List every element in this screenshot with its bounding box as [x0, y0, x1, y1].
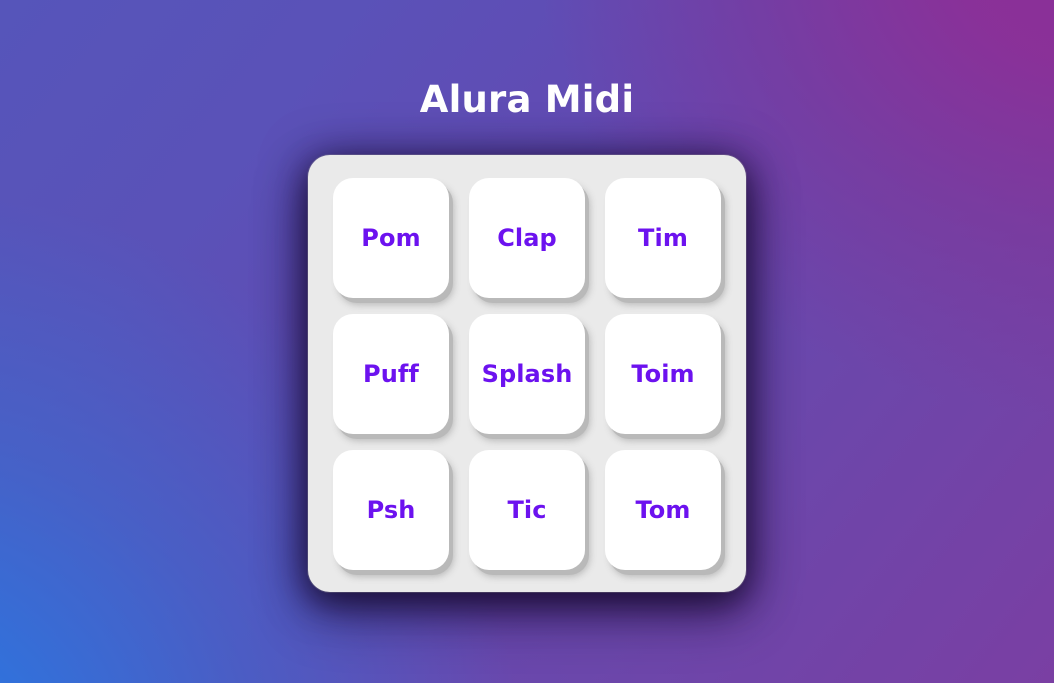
pad-label: Pom [361, 224, 420, 252]
pad-label: Tim [638, 224, 688, 252]
drum-pad-grid: Pom Clap Tim Puff Splash Toim Psh Tic [333, 178, 721, 570]
pad-psh-button[interactable]: Psh [333, 450, 449, 570]
app-screen: Alura Midi Pom Clap Tim Puff Splash Toim [0, 0, 1054, 683]
pad-label: Tic [507, 496, 546, 524]
pad-label: Clap [497, 224, 557, 252]
pad-tic-button[interactable]: Tic [469, 450, 585, 570]
pad-clap-button[interactable]: Clap [469, 178, 585, 298]
pad-splash-button[interactable]: Splash [469, 314, 585, 434]
pad-label: Splash [482, 360, 573, 388]
pad-label: Toim [631, 360, 694, 388]
pad-label: Puff [363, 360, 419, 388]
page-title: Alura Midi [420, 78, 634, 122]
drum-pad-card: Pom Clap Tim Puff Splash Toim Psh Tic [308, 155, 746, 592]
pad-tim-button[interactable]: Tim [605, 178, 721, 298]
pad-label: Tom [636, 496, 691, 524]
pad-pom-button[interactable]: Pom [333, 178, 449, 298]
pad-tom-button[interactable]: Tom [605, 450, 721, 570]
pad-label: Psh [367, 496, 416, 524]
pad-puff-button[interactable]: Puff [333, 314, 449, 434]
pad-toim-button[interactable]: Toim [605, 314, 721, 434]
